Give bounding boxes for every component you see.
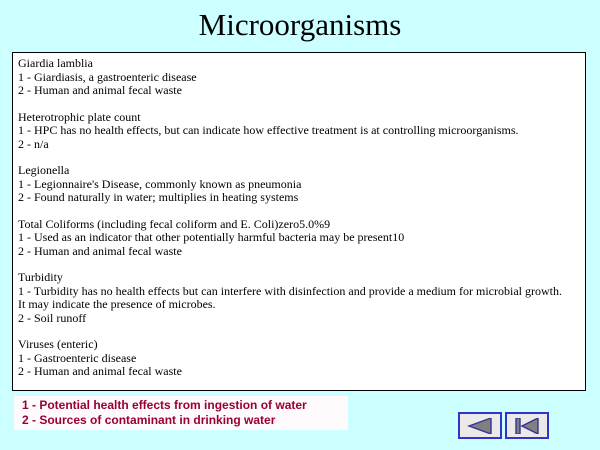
entry-health-effects: 1 - Legionnaire's Disease, commonly know… [18,178,585,192]
microorganism-list: Giardia lamblia 1 - Giardiasis, a gastro… [13,53,585,379]
navigation-bar [458,412,549,439]
entry-name: Total Coliforms (including fecal colifor… [18,218,585,232]
previous-slide-button[interactable] [458,412,502,439]
entry-sources: 2 - n/a [18,138,585,152]
list-item: Heterotrophic plate count 1 - HPC has no… [18,111,585,152]
entry-name: Turbidity [18,271,585,285]
entry-health-effects: 1 - Giardiasis, a gastroenteric disease [18,71,585,85]
list-item: Total Coliforms (including fecal colifor… [18,218,585,259]
entry-sources: 2 - Soil runoff [18,312,585,326]
list-item: Viruses (enteric) 1 - Gastroenteric dise… [18,338,585,379]
page-title: Microorganisms [0,0,600,47]
entry-name: Viruses (enteric) [18,338,585,352]
list-item: Turbidity 1 - Turbidity has no health ef… [18,271,585,325]
entry-sources: 2 - Human and animal fecal waste [18,245,585,259]
triangle-left-icon [467,418,493,434]
first-slide-button[interactable] [505,412,549,439]
legend-line-health-effects: 1 - Potential health effects from ingest… [22,398,348,413]
entry-name: Giardia lamblia [18,57,585,71]
entry-health-effects: 1 - Used as an indicator that other pote… [18,231,585,245]
entry-name: Legionella [18,164,585,178]
entry-sources: 2 - Human and animal fecal waste [18,365,585,379]
content-panel: Giardia lamblia 1 - Giardiasis, a gastro… [12,52,586,391]
entry-health-effects: 1 - HPC has no health effects, but can i… [18,124,585,138]
skip-to-start-icon [514,418,540,434]
list-item: Legionella 1 - Legionnaire's Disease, co… [18,164,585,205]
entry-name: Heterotrophic plate count [18,111,585,125]
list-item: Giardia lamblia 1 - Giardiasis, a gastro… [18,57,585,98]
entry-sources: 2 - Human and animal fecal waste [18,84,585,98]
entry-health-effects: 1 - Turbidity has no health effects but … [18,285,585,299]
entry-health-effects-continued: It may indicate the presence of microbes… [18,298,585,312]
entry-sources: 2 - Found naturally in water; multiplies… [18,191,585,205]
legend: 1 - Potential health effects from ingest… [14,396,348,430]
legend-line-sources: 2 - Sources of contaminant in drinking w… [22,413,348,428]
entry-health-effects: 1 - Gastroenteric disease [18,352,585,366]
